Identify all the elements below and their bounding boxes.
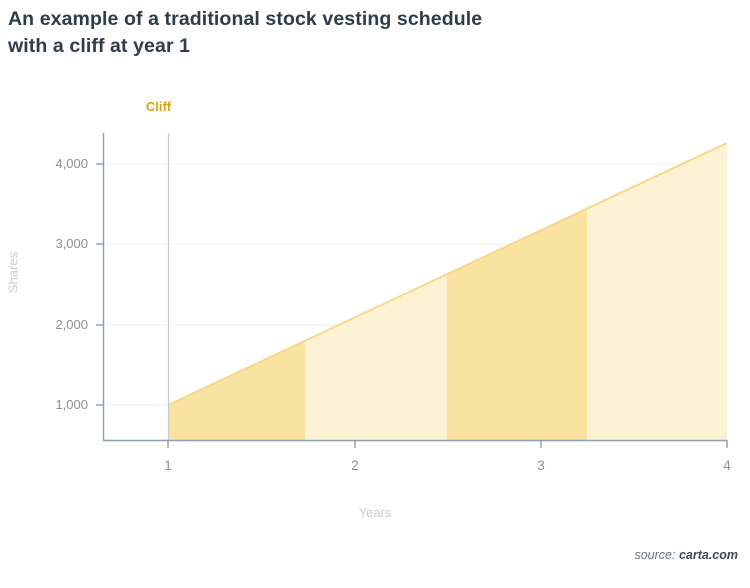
x-tick-label-4: 4 (707, 458, 747, 473)
y-axis-ticks (96, 164, 103, 405)
x-tick-label-3: 3 (521, 458, 561, 473)
x-tick-label-1: 1 (148, 458, 188, 473)
y-tick-label-2000: 2,000 (18, 317, 88, 332)
x-axis-title: Years (0, 505, 750, 520)
y-tick-label-1000: 1,000 (18, 397, 88, 412)
source-name: carta.com (679, 548, 738, 562)
chart-figure: An example of a traditional stock vestin… (0, 0, 750, 588)
x-axis-ticks (168, 440, 727, 448)
x-tick-label-2: 2 (335, 458, 375, 473)
y-axis-title: Shares (6, 238, 21, 308)
source-attribution: source: carta.com (634, 548, 738, 562)
chart-plot-area (0, 0, 750, 588)
source-prefix: source: (634, 548, 675, 562)
cliff-annotation-label: Cliff (146, 100, 171, 114)
y-tick-label-4000: 4,000 (18, 156, 88, 171)
y-tick-label-3000: 3,000 (18, 236, 88, 251)
